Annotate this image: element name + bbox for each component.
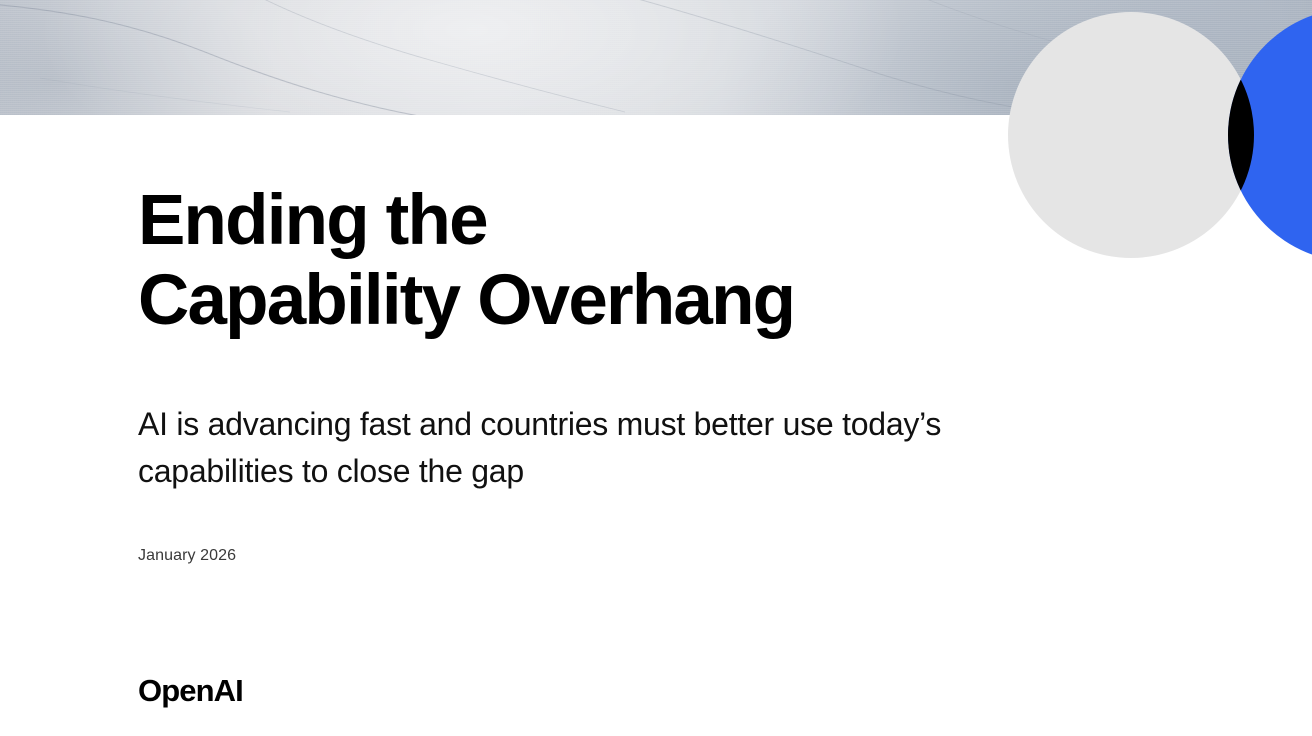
title-slide: Ending the Capability Overhang AI is adv…: [0, 0, 1312, 736]
publication-date: January 2026: [138, 545, 236, 567]
stone-texture-banner: [0, 0, 1312, 115]
banner-grain: [0, 0, 1312, 115]
banner-vein-lines: [0, 0, 1312, 115]
banner-sheen: [0, 0, 1312, 115]
slide-subtitle: AI is advancing fast and countries must …: [138, 401, 1098, 495]
page-title: Ending the Capability Overhang: [138, 181, 794, 341]
openai-wordmark: OpenAI: [138, 673, 243, 709]
